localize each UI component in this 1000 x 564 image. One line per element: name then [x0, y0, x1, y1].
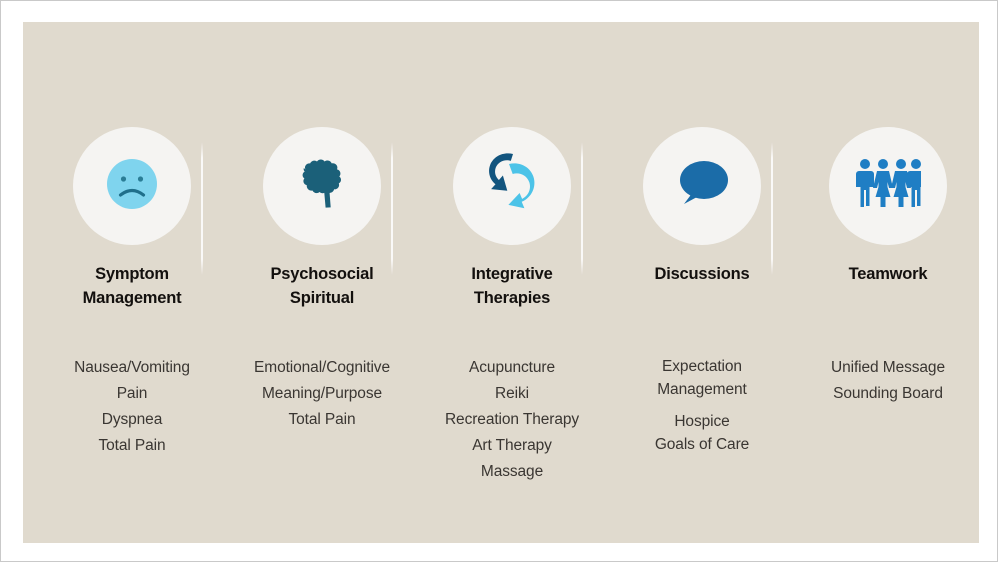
- list-item: Goals of Care: [607, 433, 797, 456]
- heading-line: Teamwork: [849, 265, 928, 283]
- list-item: Art Therapy: [417, 433, 607, 459]
- column-items: Unified Message Sounding Board: [797, 355, 979, 407]
- column-heading: Discussions: [607, 262, 797, 286]
- people-group-icon: [855, 156, 921, 217]
- sad-face-icon: [104, 156, 160, 217]
- figure-frame: Symptom Management Nausea/Vomiting Pain …: [0, 0, 998, 562]
- column-items: Expectation Management Hospice Goals of …: [607, 355, 797, 456]
- heading-line: Psychosocial: [270, 265, 373, 283]
- icon-circle-teamwork: [829, 127, 947, 245]
- brain-icon: [292, 155, 352, 218]
- list-item: Reiki: [417, 381, 607, 407]
- list-item: Massage: [417, 459, 607, 485]
- list-item: Acupuncture: [417, 355, 607, 381]
- list-item: Total Pain: [227, 407, 417, 433]
- icon-circle-integrative-therapies: [453, 127, 571, 245]
- list-item: Management: [607, 378, 797, 401]
- heading-line: Discussions: [654, 265, 749, 283]
- column-divider: [391, 142, 393, 275]
- speech-bubble-icon: [671, 156, 733, 217]
- column-heading: Integrative Therapies: [417, 262, 607, 310]
- list-item: Meaning/Purpose: [227, 381, 417, 407]
- heading-line: Symptom: [95, 265, 169, 283]
- heading-line: Management: [83, 289, 182, 307]
- icon-circle-psychosocial-spiritual: [263, 127, 381, 245]
- figure-panel: Symptom Management Nausea/Vomiting Pain …: [23, 22, 979, 543]
- list-item: Dyspnea: [37, 407, 227, 433]
- heading-line: Spiritual: [290, 289, 354, 307]
- column-items: Emotional/Cognitive Meaning/Purpose Tota…: [227, 355, 417, 433]
- list-item: Total Pain: [37, 433, 227, 459]
- list-item: Sounding Board: [797, 381, 979, 407]
- list-item: Emotional/Cognitive: [227, 355, 417, 381]
- list-item: Nausea/Vomiting: [37, 355, 227, 381]
- list-item: Unified Message: [797, 355, 979, 381]
- list-item: Pain: [37, 381, 227, 407]
- column-heading: Teamwork: [797, 262, 979, 286]
- icon-circle-discussions: [643, 127, 761, 245]
- column-divider: [581, 142, 583, 275]
- column-divider: [771, 142, 773, 275]
- column-heading: Psychosocial Spiritual: [227, 262, 417, 310]
- icon-circle-symptom-management: [73, 127, 191, 245]
- heading-line: Therapies: [474, 289, 550, 307]
- column-divider: [201, 142, 203, 275]
- heading-line: Integrative: [471, 265, 552, 283]
- column-items: Acupuncture Reiki Recreation Therapy Art…: [417, 355, 607, 485]
- list-item: Hospice: [607, 410, 797, 433]
- column-heading: Symptom Management: [37, 262, 227, 310]
- circular-arrows-icon: [479, 148, 545, 225]
- list-item: Recreation Therapy: [417, 407, 607, 433]
- column-items: Nausea/Vomiting Pain Dyspnea Total Pain: [37, 355, 227, 459]
- list-item: Expectation: [607, 355, 797, 378]
